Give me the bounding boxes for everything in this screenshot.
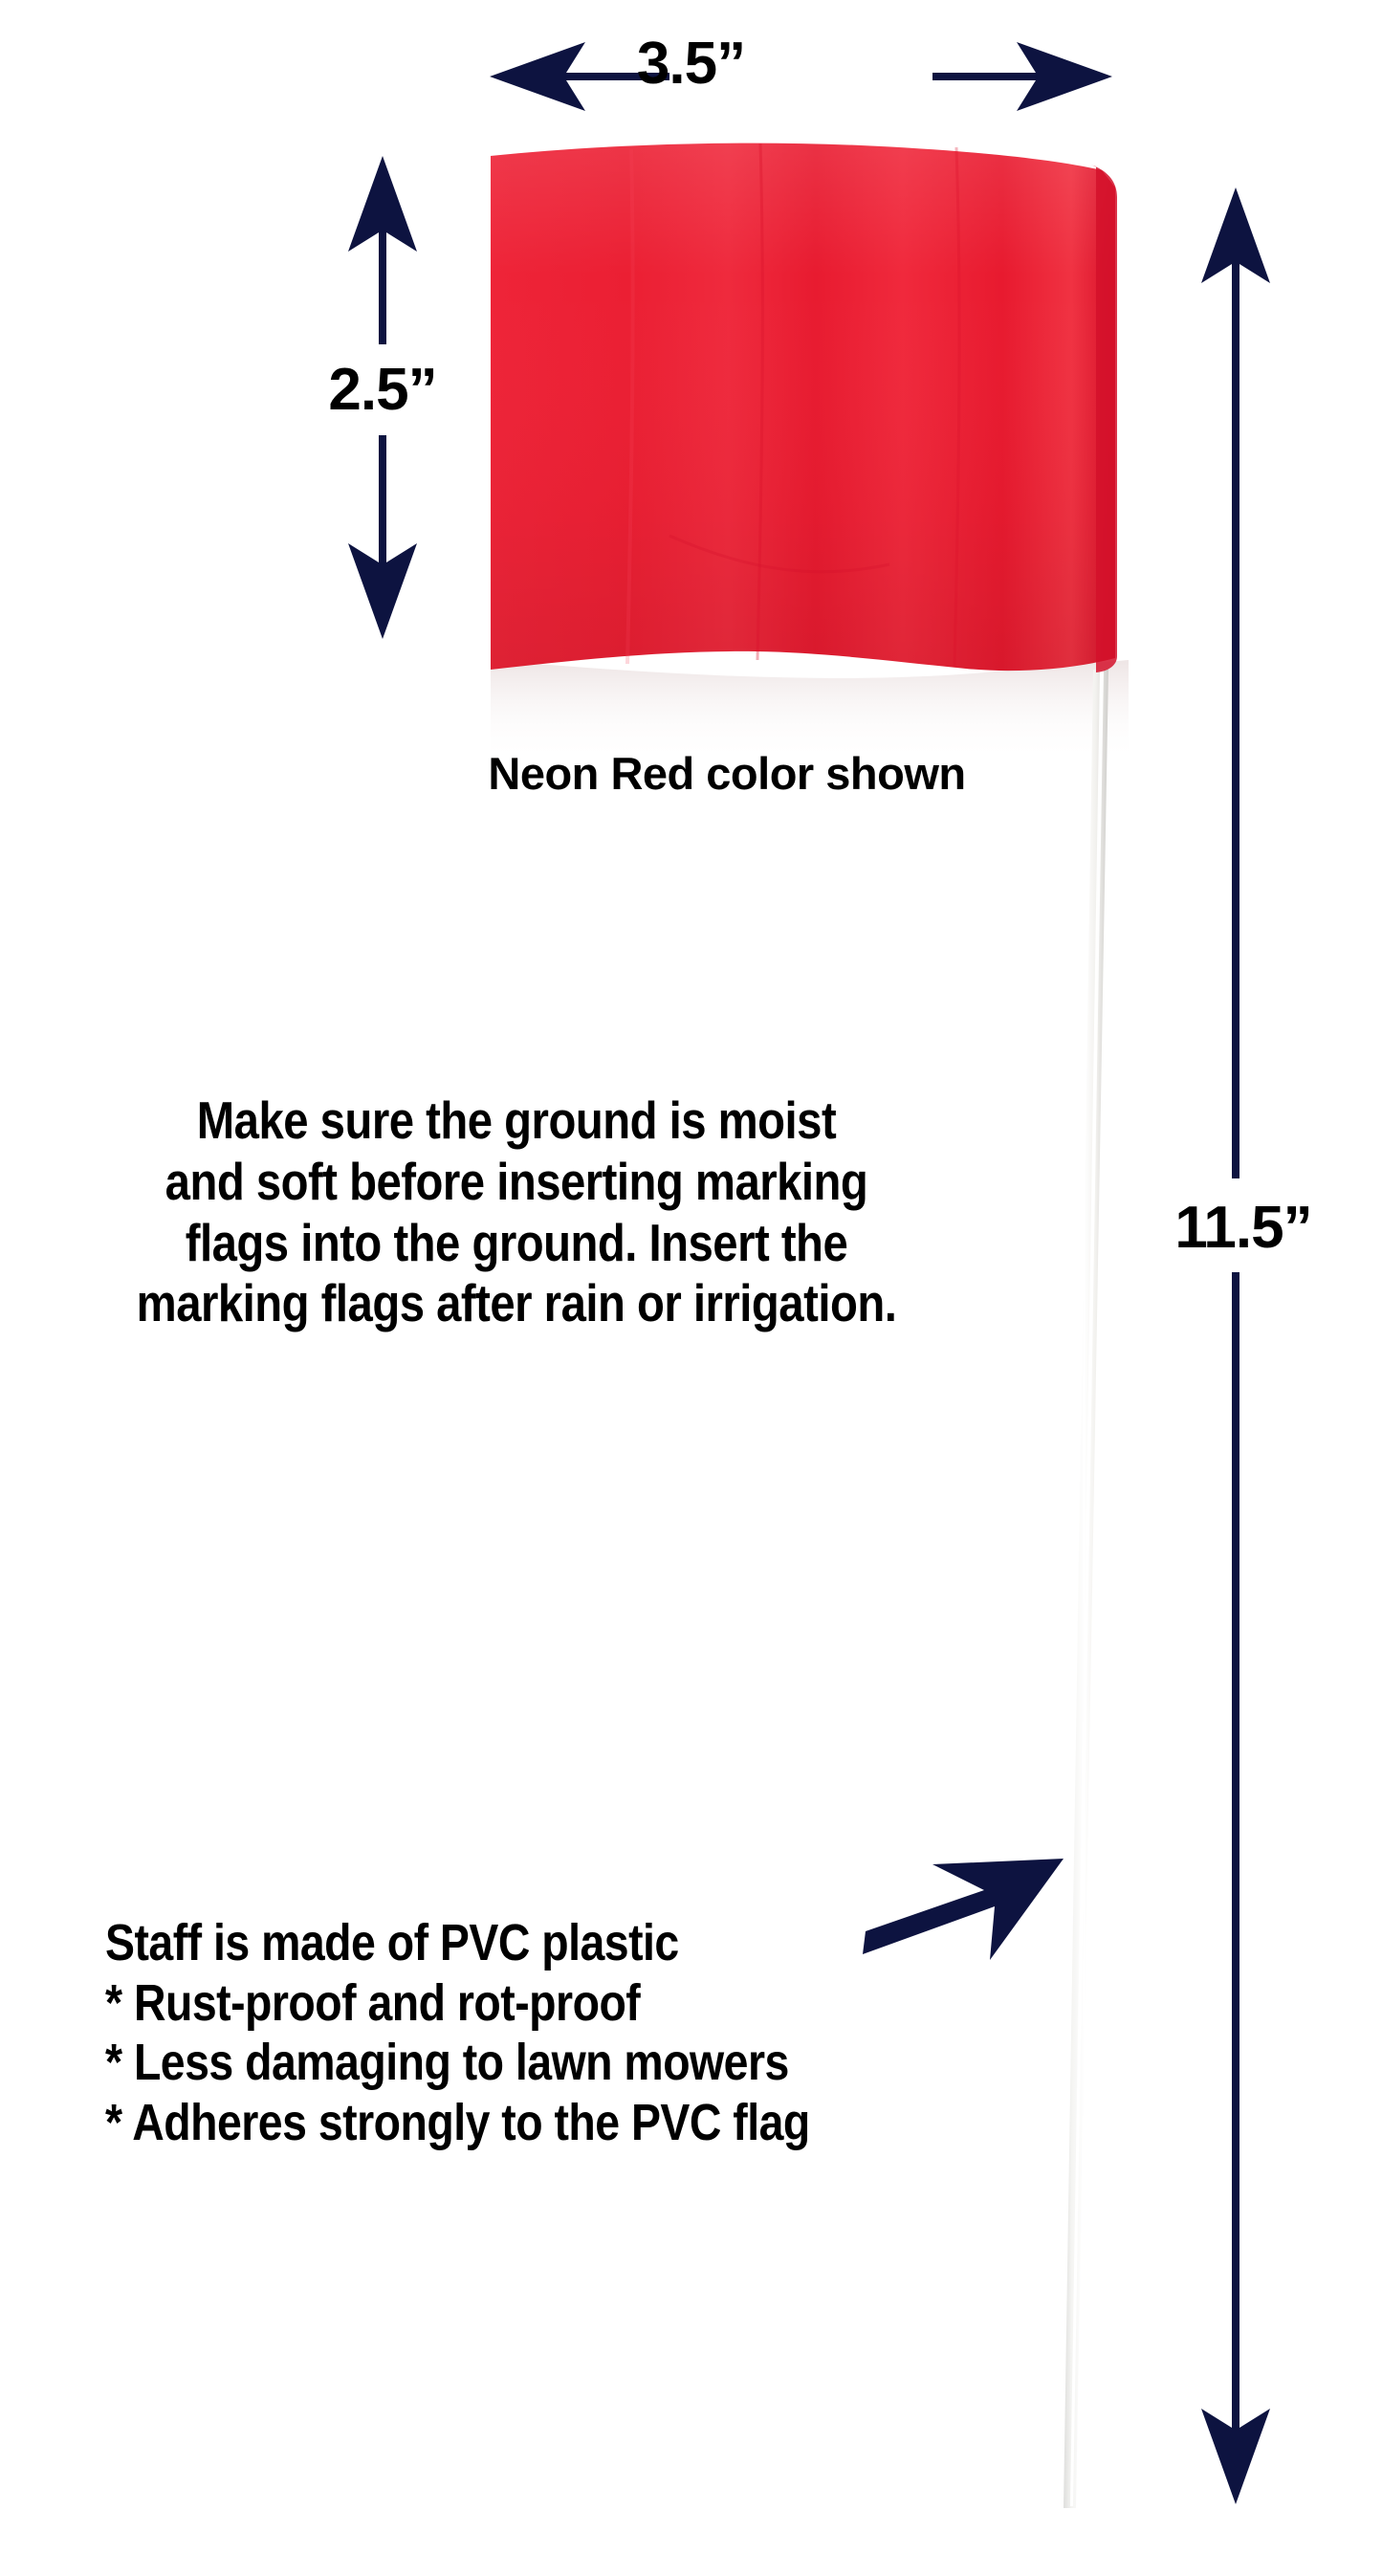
staff-callout-bullet: * Rust-proof and rot-proof [105, 1973, 944, 2034]
staff-callout-block: Staff is made of PVC plastic * Rust-proo… [105, 1913, 944, 2153]
staff-length-dimension-label: 11.5” [1129, 1194, 1358, 1262]
instructions-line: Make sure the ground is moist [89, 1090, 944, 1152]
product-diagram-canvas: 3.5” 2.5” 11.5” Neon Red color shown Mak… [0, 0, 1382, 2576]
width-dimension-label: 3.5” [0, 30, 1382, 98]
flag-shadow [491, 660, 1129, 761]
color-caption: Neon Red color shown [421, 749, 1033, 800]
staff-callout-bullet: * Less damaging to lawn mowers [105, 2033, 944, 2093]
staff-highlight [1070, 670, 1104, 2506]
instructions-paragraph: Make sure the ground is moist and soft b… [89, 1090, 944, 1334]
instructions-line: marking flags after rain or irrigation. [89, 1273, 944, 1334]
instructions-line: flags into the ground. Insert the [89, 1213, 944, 1274]
staff-callout-heading: Staff is made of PVC plastic [105, 1913, 944, 1973]
flag-face-shading [491, 143, 1115, 671]
staff-callout-bullet: * Adheres strongly to the PVC flag [105, 2093, 944, 2153]
height-dimension-label: 2.5” [287, 356, 478, 424]
instructions-line: and soft before inserting marking [89, 1152, 944, 1213]
